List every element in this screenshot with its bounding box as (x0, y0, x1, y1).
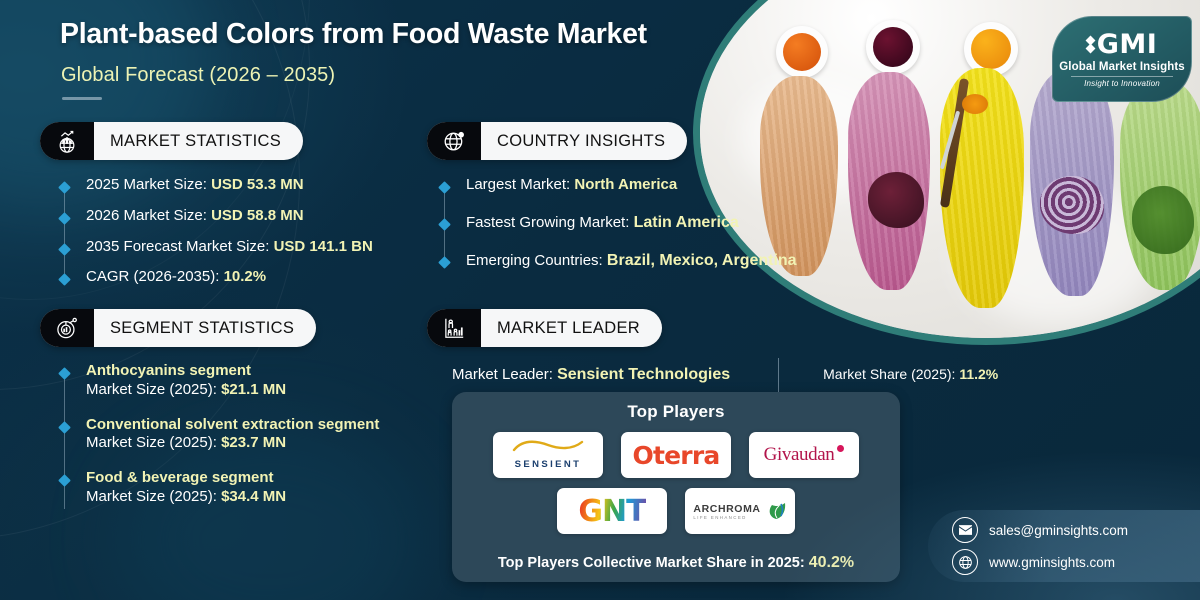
bullet-icon (438, 256, 451, 269)
logo-sensient[interactable]: SENSIENT (493, 432, 603, 478)
segment-value: $21.1 MN (221, 381, 286, 398)
bullet-icon (58, 181, 71, 194)
collective-share-value: 40.2% (809, 554, 854, 571)
list-item: 2035 Forecast Market Size: USD 141.1 BN (60, 238, 390, 257)
bullet-icon (438, 181, 451, 194)
gmi-diamond-icon (1087, 37, 1094, 52)
gmi-abbr: GMI (1097, 31, 1158, 58)
section-header-country-insights: COUNTRY INSIGHTS (427, 122, 687, 160)
bullet-icon (58, 243, 71, 256)
vertical-divider (778, 358, 779, 392)
section-title-market-leader: MARKET LEADER (481, 319, 662, 338)
list-item: Fastest Growing Market: Latin America (440, 213, 870, 233)
hibiscus-flowers (868, 172, 924, 228)
insight-label: Emerging Countries: (466, 252, 603, 269)
section-title-country-insights: COUNTRY INSIGHTS (481, 132, 687, 151)
logo-oterra[interactable]: Oterra (621, 432, 731, 478)
segment-name: Anthocyanins segment (86, 362, 286, 381)
givaudan-dot-icon (837, 445, 844, 452)
list-item: Food & beverage segment Market Size (202… (60, 469, 460, 507)
insight-value: Latin America (634, 214, 739, 231)
section-title-segment-statistics: SEGMENT STATISTICS (94, 319, 316, 338)
stat-label: CAGR (2026-2035): (86, 268, 219, 285)
stat-label: 2035 Forecast Market Size: (86, 238, 269, 255)
sensient-swoosh-icon (511, 440, 585, 453)
list-item: 2025 Market Size: USD 53.3 MN (60, 176, 390, 195)
segment-statistics-list: Anthocyanins segment Market Size (2025):… (60, 362, 460, 507)
top-players-footer: Top Players Collective Market Share in 2… (452, 554, 900, 572)
market-leader-value: Sensient Technologies (557, 366, 730, 383)
insight-value: Brazil, Mexico, Argentina (607, 252, 797, 269)
insight-label: Fastest Growing Market: (466, 214, 629, 231)
list-item: Largest Market: North America (440, 176, 870, 195)
title-underline (62, 97, 102, 100)
stat-value: USD 141.1 BN (274, 238, 373, 255)
insight-label: Largest Market: (466, 176, 570, 193)
stat-label: 2025 Market Size: (86, 176, 207, 193)
gmi-name: Global Market Insights (1059, 61, 1185, 73)
turmeric-spoon (962, 94, 988, 114)
globe-bar-chart-icon (40, 122, 94, 160)
contact-email: sales@gminsights.com (989, 523, 1128, 538)
segment-name: Food & beverage segment (86, 469, 286, 488)
logo-archroma[interactable]: ARCHROMA LIFE ENHANCED (685, 488, 795, 534)
segment-label: Market Size (2025): (86, 434, 217, 451)
podium-chart-icon (427, 309, 481, 347)
section-header-market-leader: MARKET LEADER (427, 309, 662, 347)
contact-website: www.gminsights.com (989, 555, 1115, 570)
logo-text: Givaudan (764, 444, 835, 466)
segment-value: $23.7 MN (221, 434, 286, 451)
market-leader-summary: Market Leader: Sensient Technologies Mar… (452, 358, 1052, 392)
bullet-icon (58, 212, 71, 225)
segment-label: Market Size (2025): (86, 488, 217, 505)
red-cabbage-slice (1040, 176, 1104, 234)
top-players-logo-row-1: SENSIENT Oterra Givaudan (452, 432, 900, 478)
dye-bowl-dark-red (866, 20, 920, 74)
logo-text: Oterra (633, 441, 720, 470)
contact-website-row[interactable]: www.gminsights.com (952, 549, 1200, 575)
bullet-icon (58, 421, 71, 434)
contact-block: sales@gminsights.com www.gminsights.com (928, 510, 1200, 582)
collective-share-label: Top Players Collective Market Share in 2… (498, 555, 805, 571)
list-item: CAGR (2026-2035): 10.2% (60, 268, 390, 287)
segment-label: Market Size (2025): (86, 381, 217, 398)
section-title-market-statistics: MARKET STATISTICS (94, 132, 303, 151)
top-players-logo-row-2: GNT ARCHROMA LIFE ENHANCED (452, 488, 900, 534)
country-insights-list: Largest Market: North America Fastest Gr… (440, 176, 870, 271)
parsley-leaves (1132, 186, 1194, 254)
insight-value: North America (574, 176, 677, 193)
stat-value: 10.2% (224, 268, 267, 285)
list-item: 2026 Market Size: USD 58.8 MN (60, 207, 390, 226)
segment-value: $34.4 MN (221, 488, 286, 505)
top-players-heading: Top Players (452, 402, 900, 422)
gmi-divider (1071, 76, 1173, 77)
top-players-panel: Top Players SENSIENT Oterra Givaudan (452, 392, 900, 582)
bullet-icon (438, 218, 451, 231)
logo-gnt[interactable]: GNT (557, 488, 667, 534)
logo-text: SENSIENT (511, 459, 585, 470)
globe-icon (952, 549, 978, 575)
market-statistics-list: 2025 Market Size: USD 53.3 MN 2026 Marke… (60, 176, 390, 287)
section-header-market-statistics: MARKET STATISTICS (40, 122, 303, 160)
globe-pin-icon (427, 122, 481, 160)
gmi-logo: GMI Global Market Insights Insight to In… (1052, 16, 1192, 102)
dye-bowl-orange (776, 26, 828, 78)
section-header-segment-statistics: SEGMENT STATISTICS (40, 309, 316, 347)
segment-name: Conventional solvent extraction segment (86, 416, 379, 435)
list-item: Emerging Countries: Brazil, Mexico, Arge… (440, 251, 870, 271)
logo-subtext: LIFE ENHANCED (693, 515, 760, 520)
page-title: Plant-based Colors from Food Waste Marke… (60, 18, 720, 51)
logo-text: ARCHROMA (693, 503, 760, 515)
gmi-tagline: Insight to Innovation (1084, 79, 1160, 88)
stat-value: USD 58.8 MN (211, 207, 304, 224)
logo-text: GNT (578, 494, 645, 529)
list-item: Anthocyanins segment Market Size (2025):… (60, 362, 460, 400)
archroma-leaf-icon (765, 501, 787, 521)
market-share-value: 11.2% (959, 366, 998, 382)
page-subtitle: Global Forecast (2026 – 2035) (61, 64, 335, 87)
bullet-icon (58, 474, 71, 487)
stat-value: USD 53.3 MN (211, 176, 304, 193)
market-share-label: Market Share (2025): (823, 366, 955, 382)
infographic-page: GMI Global Market Insights Insight to In… (0, 0, 1200, 600)
logo-givaudan[interactable]: Givaudan (749, 432, 859, 478)
contact-email-row[interactable]: sales@gminsights.com (952, 517, 1200, 543)
envelope-icon (952, 517, 978, 543)
market-leader-label: Market Leader: (452, 366, 553, 383)
bullet-icon (58, 367, 71, 380)
bullet-icon (58, 273, 71, 286)
stat-label: 2026 Market Size: (86, 207, 207, 224)
list-item: Conventional solvent extraction segment … (60, 416, 460, 454)
pie-chart-icon (40, 309, 94, 347)
